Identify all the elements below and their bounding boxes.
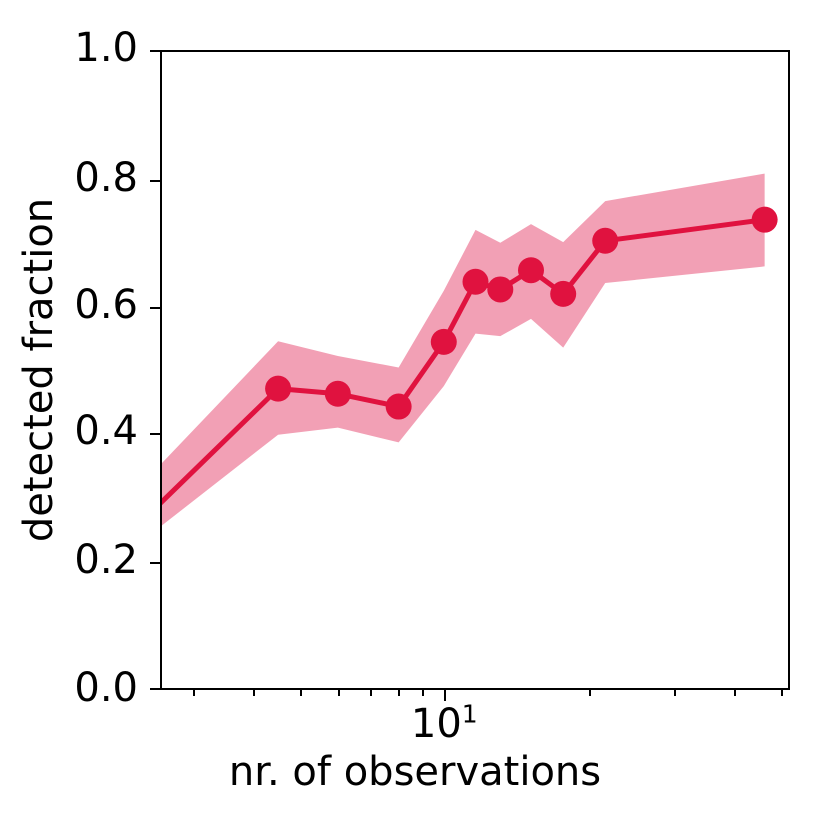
ytick-label: 1.0 bbox=[74, 28, 138, 68]
ytick-mark bbox=[150, 180, 160, 182]
ytick-mark bbox=[150, 688, 160, 690]
xtick-label-major: 101 bbox=[411, 704, 478, 744]
data-point bbox=[752, 207, 778, 233]
ytick-mark bbox=[150, 562, 160, 564]
plot-canvas bbox=[162, 52, 792, 692]
data-point bbox=[265, 376, 291, 402]
data-point bbox=[550, 281, 576, 307]
figure: 1.0 0.8 0.6 0.4 0.2 0.0 101 nr. of obser… bbox=[0, 0, 830, 830]
xtick-mantissa: 10 bbox=[411, 701, 462, 747]
ytick-mark bbox=[150, 433, 160, 435]
data-point bbox=[431, 329, 457, 355]
plot-area bbox=[160, 50, 790, 690]
ytick-label: 0.4 bbox=[74, 411, 138, 451]
data-point bbox=[386, 394, 412, 420]
data-point bbox=[518, 257, 544, 283]
data-point bbox=[463, 269, 489, 295]
ytick-label: 0.2 bbox=[74, 540, 138, 580]
x-axis-label: nr. of observations bbox=[0, 752, 830, 792]
ytick-label: 0.6 bbox=[74, 285, 138, 325]
ytick-label: 0.0 bbox=[74, 668, 138, 708]
y-axis-label: detected fraction bbox=[14, 50, 64, 690]
data-point bbox=[487, 276, 513, 302]
ytick-mark bbox=[150, 50, 160, 52]
data-point bbox=[592, 228, 618, 254]
data-point bbox=[325, 381, 351, 407]
ytick-label: 0.8 bbox=[74, 158, 138, 198]
ytick-mark bbox=[150, 307, 160, 309]
xtick-exponent: 1 bbox=[462, 700, 478, 729]
